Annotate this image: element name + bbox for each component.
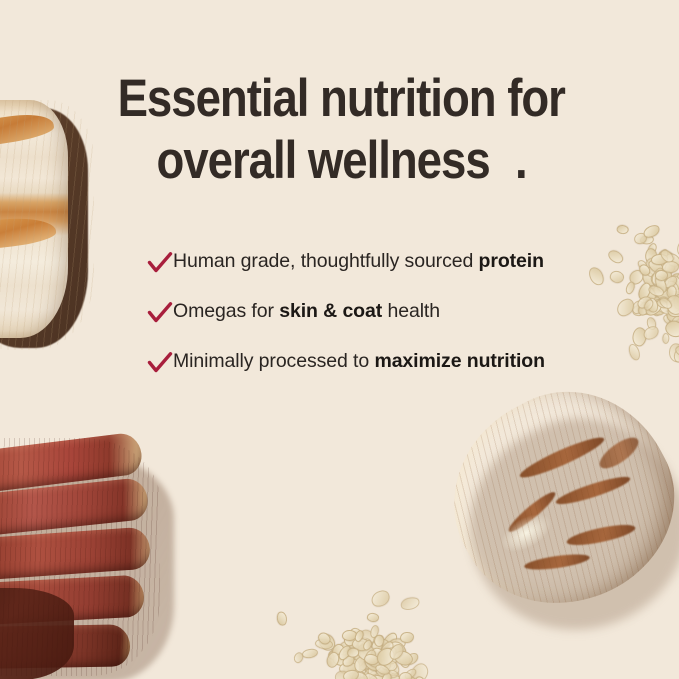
benefit-text-plain: Minimally processed to <box>173 350 374 372</box>
steak-grain-texture <box>0 438 160 676</box>
oat-flake <box>301 648 318 660</box>
check-icon <box>147 251 173 275</box>
rolled-oats-photo-bottom-center <box>246 496 462 679</box>
oat-flake <box>616 224 629 235</box>
sliced-steak-photo <box>0 438 184 679</box>
sliced-roast-turkey-photo <box>0 100 94 350</box>
oat-flake <box>624 281 636 296</box>
oat-flake <box>606 248 625 266</box>
check-icon <box>147 351 173 375</box>
headline-line-2: overall wellness . <box>48 130 632 192</box>
list-item-label: Omegas for skin & coat health <box>173 298 567 325</box>
rolled-oats-photo-top-right <box>556 136 679 352</box>
benefit-text-trailing: health <box>382 300 440 322</box>
oat-flake <box>608 270 625 285</box>
headline-line-1: Essential nutrition for <box>48 68 632 130</box>
oat-flake <box>367 612 381 622</box>
check-icon <box>147 301 173 325</box>
oat-flake <box>368 588 392 610</box>
oat-flake <box>399 672 412 679</box>
headline-period: . <box>490 131 528 190</box>
benefit-text-plain: Omegas for <box>173 300 279 322</box>
list-item: Human grade, thoughtfully sourced protei… <box>147 248 567 275</box>
benefit-text-plain: Human grade, thoughtfully sourced <box>173 250 479 272</box>
roasted-chicken-breast-photo <box>446 388 679 656</box>
list-item-label: Human grade, thoughtfully sourced protei… <box>173 248 567 275</box>
oat-flake <box>277 611 288 627</box>
benefits-list: Human grade, thoughtfully sourced protei… <box>147 248 567 375</box>
oat-flake <box>586 265 606 288</box>
list-item: Omegas for skin & coat health <box>147 298 567 325</box>
benefit-text-emphasis: maximize nutrition <box>374 350 544 372</box>
list-item: Minimally processed to maximize nutritio… <box>147 348 567 375</box>
product-benefits-banner: Essential nutrition for overall wellness… <box>0 0 679 679</box>
turkey-grain-texture <box>0 100 94 350</box>
headline-line-2-text: overall wellness <box>157 131 490 190</box>
benefit-text-emphasis: protein <box>479 250 544 272</box>
oat-flake <box>400 596 421 612</box>
benefit-text-emphasis: skin & coat <box>279 300 382 322</box>
oat-flake <box>400 632 415 644</box>
list-item-label: Minimally processed to maximize nutritio… <box>173 348 567 375</box>
oat-flake <box>613 295 637 319</box>
